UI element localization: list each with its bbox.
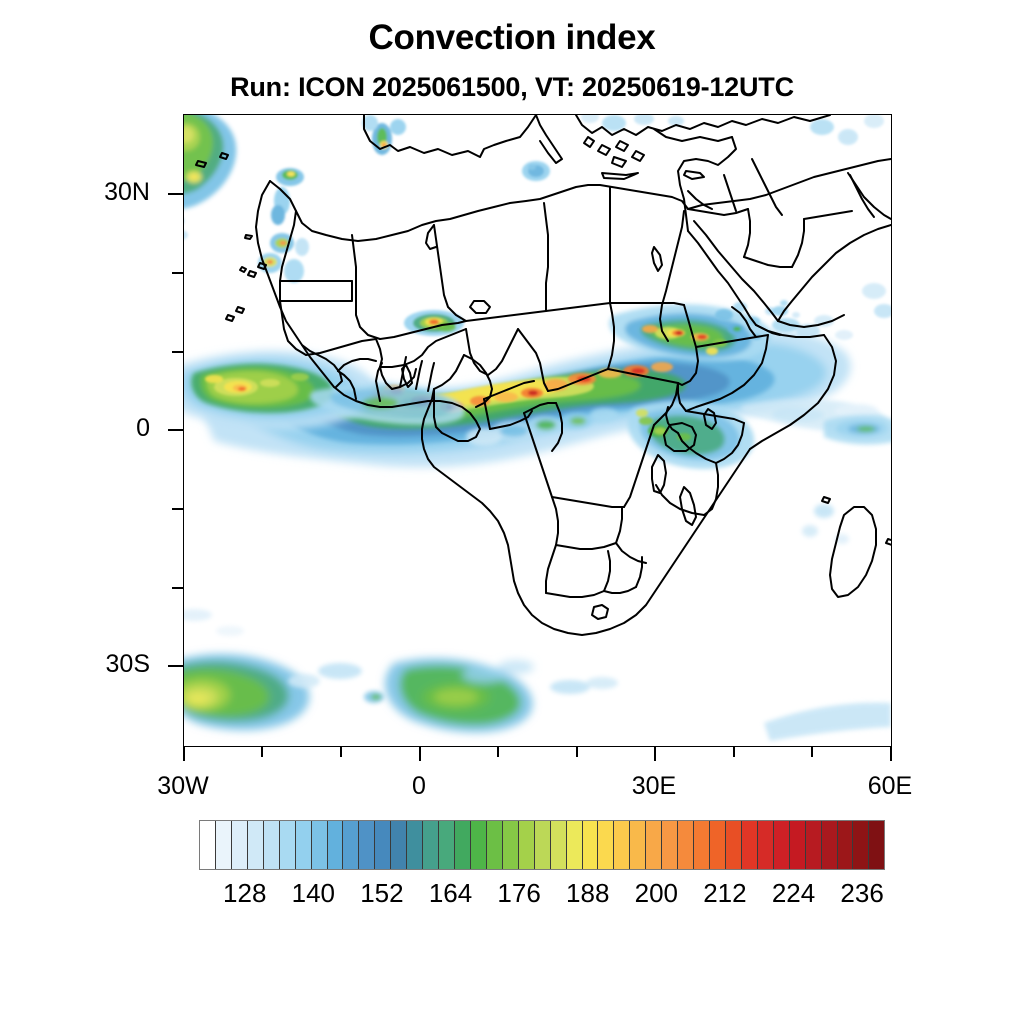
x-tick-50e (811, 746, 813, 757)
x-tick-0 (419, 746, 421, 761)
colorbar-cell (678, 821, 694, 869)
colorbar-cell (359, 821, 375, 869)
x-tick-60e (890, 746, 892, 761)
colorbar-cell (280, 821, 296, 869)
colorbar-tick-label: 164 (429, 878, 472, 909)
colorbar-cell (471, 821, 487, 869)
colorbar-cell (598, 821, 614, 869)
colorbar-cell (838, 821, 854, 869)
colorbar-cell (519, 821, 535, 869)
colorbar-cell (328, 821, 344, 869)
x-tick-30e (654, 746, 656, 761)
colorbar-cell (853, 821, 869, 869)
y-tick-10n (172, 351, 183, 353)
y-tick-0 (168, 429, 183, 431)
colorbar-cell (662, 821, 678, 869)
map-plot-area (183, 114, 892, 747)
colorbar-cell (567, 821, 583, 869)
x-tick-10w (340, 746, 342, 757)
colorbar-cell (312, 821, 328, 869)
colorbar-cell (694, 821, 710, 869)
colorbar-cell (248, 821, 264, 869)
colorbar-tick-label: 224 (772, 878, 815, 909)
colorbar-tick-label: 140 (292, 878, 335, 909)
colorbar-tick-label: 212 (703, 878, 746, 909)
x-tick-30w (183, 746, 185, 761)
colorbar-cell (806, 821, 822, 869)
y-tick-30n (168, 193, 183, 195)
y-tick-10s (172, 508, 183, 510)
colorbar-cell (790, 821, 806, 869)
y-tick-20n (172, 272, 183, 274)
colorbar-cell (391, 821, 407, 869)
colorbar-cell (200, 821, 216, 869)
page-title: Convection index (0, 18, 1024, 58)
y-axis-label-30n: 30N (0, 178, 150, 207)
colorbar-tick-label: 236 (840, 878, 883, 909)
colorbar-cell (742, 821, 758, 869)
map-canvas (184, 115, 891, 746)
colorbar-cell (216, 821, 232, 869)
colorbar-tick-label: 152 (360, 878, 403, 909)
colorbar-cell (296, 821, 312, 869)
colorbar-cell (869, 821, 884, 869)
colorbar-tick-labels: 128140152164176188200212224236 (0, 878, 1024, 918)
colorbar-cell (455, 821, 471, 869)
colorbar-cell (710, 821, 726, 869)
colorbar-cell (646, 821, 662, 869)
colorbar-cell (423, 821, 439, 869)
chart-figure: Convection index Run: ICON 2025061500, V… (0, 0, 1024, 1024)
x-tick-20w (261, 746, 263, 757)
colorbar-tick-label: 128 (223, 878, 266, 909)
x-axis-label-30w: 30W (123, 772, 243, 801)
colorbar-cell (375, 821, 391, 869)
colorbar-cell (503, 821, 519, 869)
colorbar-cell (487, 821, 503, 869)
colorbar[interactable] (199, 820, 885, 870)
colorbar-cell (758, 821, 774, 869)
colorbar-cell (822, 821, 838, 869)
colorbar-tick-label: 176 (497, 878, 540, 909)
y-axis-label-30s: 30S (0, 650, 150, 679)
x-axis-label-0: 0 (359, 772, 479, 801)
colorbar-cell (343, 821, 359, 869)
colorbar-cell (264, 821, 280, 869)
colorbar-cell (407, 821, 423, 869)
x-axis-label-60e: 60E (830, 772, 950, 801)
colorbar-cell (232, 821, 248, 869)
colorbar-tick-label: 188 (566, 878, 609, 909)
y-tick-20s (172, 587, 183, 589)
y-axis-label-0: 0 (0, 414, 150, 443)
x-tick-20e (576, 746, 578, 757)
x-axis-label-30e: 30E (594, 772, 714, 801)
chart-subtitle: Run: ICON 2025061500, VT: 20250619-12UTC (0, 72, 1024, 103)
colorbar-cell (630, 821, 646, 869)
x-tick-10e (497, 746, 499, 757)
colorbar-cell (583, 821, 599, 869)
colorbar-tick-label: 200 (635, 878, 678, 909)
x-tick-40e (733, 746, 735, 757)
colorbar-cell (726, 821, 742, 869)
colorbar-cell (774, 821, 790, 869)
colorbar-cell (535, 821, 551, 869)
y-tick-30s (168, 665, 183, 667)
colorbar-cell (614, 821, 630, 869)
colorbar-cell (551, 821, 567, 869)
colorbar-cell (439, 821, 455, 869)
